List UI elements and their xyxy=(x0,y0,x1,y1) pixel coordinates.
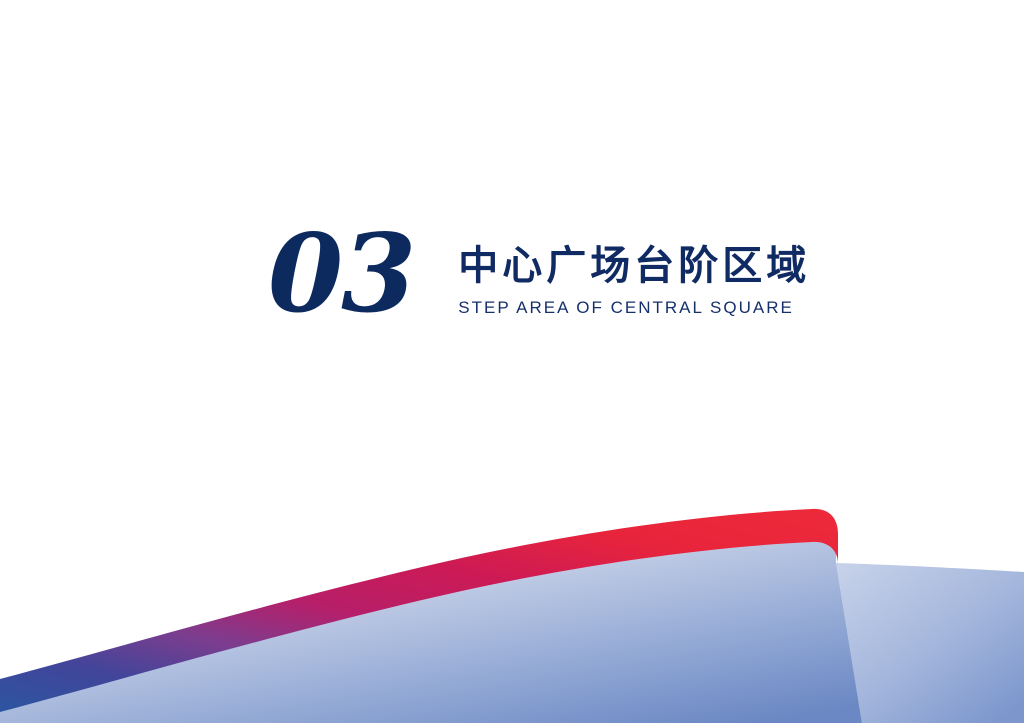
page-subtitle: STEP AREA OF CENTRAL SQUARE xyxy=(458,298,810,318)
wave-main-body xyxy=(0,530,862,723)
wave-ribbon-graphic xyxy=(0,0,1024,723)
section-number: 03 xyxy=(268,220,414,328)
slide-canvas: 03 中心广场台阶区域 STEP AREA OF CENTRAL SQUARE xyxy=(0,0,1024,723)
section-heading-block: 03 中心广场台阶区域 STEP AREA OF CENTRAL SQUARE xyxy=(268,214,810,328)
wave-gradient-ribbon xyxy=(0,509,838,712)
section-titles: 中心广场台阶区域 STEP AREA OF CENTRAL SQUARE xyxy=(458,214,810,318)
wave-right-panel xyxy=(836,563,1024,723)
page-title: 中心广场台阶区域 xyxy=(458,244,810,289)
